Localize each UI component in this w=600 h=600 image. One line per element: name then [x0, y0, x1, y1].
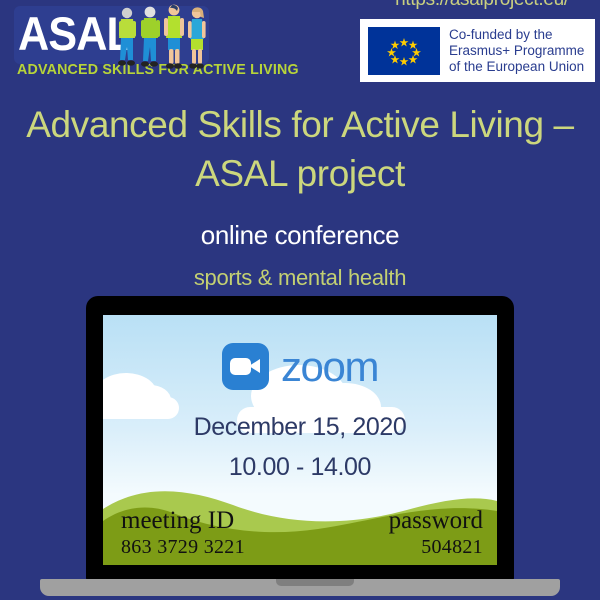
eu-flag-icon [368, 27, 440, 75]
meeting-id-block: meeting ID 863 3729 3221 [121, 507, 245, 559]
zoom-wordmark: zoom [281, 346, 378, 388]
eu-badge-line3: of the European Union [449, 59, 584, 75]
page-title-line2: ASAL project [0, 149, 600, 198]
laptop-illustration: zoom December 15, 2020 10.00 - 14.00 mee… [86, 296, 514, 581]
four-runners-icon [112, 4, 212, 72]
laptop-base-notch [276, 579, 354, 586]
meeting-id-label: meeting ID [121, 507, 245, 535]
password-block: password 504821 [389, 507, 483, 559]
subtitle-topic: sports & mental health [0, 264, 600, 292]
zoom-video-camera-icon [222, 343, 269, 390]
laptop-screen: zoom December 15, 2020 10.00 - 14.00 mee… [103, 315, 497, 565]
asal-logo: ASAL ADVANCED SKILLS FOR ACTIVE LIVING [8, 4, 213, 86]
meeting-id-value: 863 3729 3221 [121, 535, 245, 559]
page-title: Advanced Skills for Active Living – ASAL… [0, 100, 600, 198]
subtitle-online-conference: online conference [0, 219, 600, 251]
page-title-line1: Advanced Skills for Active Living – [0, 100, 600, 149]
conference-date: December 15, 2020 [103, 412, 497, 442]
password-label: password [389, 507, 483, 535]
eu-badge-line1: Co-funded by the [449, 27, 584, 43]
eu-badge-line2: Erasmus+ Programme [449, 43, 584, 59]
camera-lens-shape [249, 359, 260, 373]
conference-time: 10.00 - 14.00 [103, 452, 497, 482]
zoom-branding: zoom [103, 343, 497, 390]
conference-poster: ASAL ADVANCED SKILLS FOR ACTIVE LIVING [0, 0, 600, 600]
project-url[interactable]: https://asalproject.eu/ [372, 0, 592, 11]
eu-cofunding-badge: Co-funded by the Erasmus+ Programme of t… [360, 19, 595, 82]
password-value: 504821 [389, 535, 483, 559]
eu-badge-text: Co-funded by the Erasmus+ Programme of t… [449, 27, 584, 75]
camera-body-shape [230, 358, 251, 375]
